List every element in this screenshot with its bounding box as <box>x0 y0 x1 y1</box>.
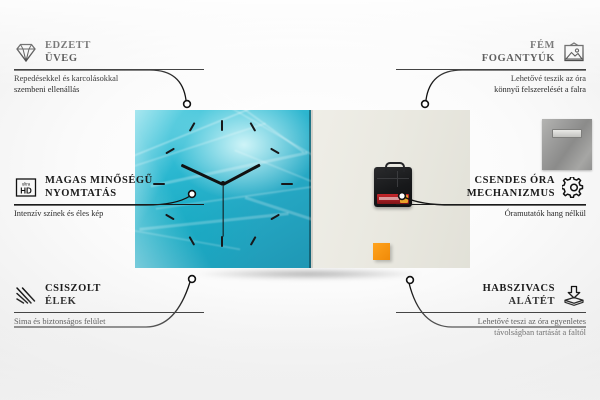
mechanism-loop <box>385 162 405 172</box>
metal-hanger <box>542 119 592 170</box>
connector-dot <box>422 101 429 108</box>
feature-desc: Lehetővé teszik az óra könnyű felszerelé… <box>396 74 586 95</box>
feature-foam-spacer: HABSZIVACS ALÁTÉT Lehetővé teszi az óra … <box>396 283 586 338</box>
product-drop-shadow <box>150 266 468 282</box>
feature-title: HABSZIVACS ALÁTÉT <box>483 283 555 308</box>
feature-metal-handles: FÉM FOGANTYÚK Lehetővé teszik az óra kön… <box>396 40 586 95</box>
divider <box>14 69 204 70</box>
clock-tick <box>250 236 256 245</box>
feature-desc: Óramutatók hang nélkül <box>396 209 586 220</box>
feature-title: CSISZOLT ÉLEK <box>45 283 101 308</box>
clock-tick <box>281 183 293 185</box>
diamond-icon <box>14 42 38 63</box>
feature-header: CSISZOLT ÉLEK <box>14 283 204 308</box>
feature-tempered-glass: EDZETT ÜVEG Repedésekkel és karcolásokka… <box>14 40 204 95</box>
divider <box>396 312 586 313</box>
feature-polished-edges: CSISZOLT ÉLEK Sima és biztonságos felüle… <box>14 283 204 328</box>
feature-header: HABSZIVACS ALÁTÉT <box>396 283 586 308</box>
feature-title: FÉM FOGANTYÚK <box>482 40 555 65</box>
divider <box>14 204 204 205</box>
polished-edges-icon <box>14 285 38 306</box>
feature-header: FÉM FOGANTYÚK <box>396 40 586 65</box>
svg-text:HD: HD <box>20 187 32 196</box>
feature-silent-mechanism: CSENDES ÓRA MECHANIZMUS Óramutatók hang … <box>396 175 586 220</box>
hanger-slot <box>552 129 582 138</box>
clock-center-hub <box>221 181 225 185</box>
divider <box>396 204 586 205</box>
feature-high-quality-print: ultra HD MAGAS MINŐSÉGŰ NYOMTATÁS Intenz… <box>14 175 204 220</box>
clock-second-hand <box>222 185 223 237</box>
feature-desc: Intenzív színek és éles kép <box>14 209 204 220</box>
divider <box>14 312 204 313</box>
clock-tick <box>270 148 279 154</box>
feature-header: ultra HD MAGAS MINŐSÉGŰ NYOMTATÁS <box>14 175 204 200</box>
feature-header: CSENDES ÓRA MECHANIZMUS <box>396 175 586 200</box>
infographic-canvas: EDZETT ÜVEG Repedésekkel és karcolásokka… <box>0 0 600 400</box>
feature-desc: Sima és biztonságos felület <box>14 317 204 328</box>
clock-tick <box>221 236 223 247</box>
foam-pad <box>373 243 390 260</box>
connector-dot <box>184 101 191 108</box>
foam-pad-icon <box>562 285 586 306</box>
feature-desc: Repedésekkel és karcolásokkal szembeni e… <box>14 74 204 95</box>
wall-hanger-icon <box>562 42 586 63</box>
feature-title: EDZETT ÜVEG <box>45 40 91 65</box>
clock-tick <box>221 120 223 131</box>
feature-title: CSENDES ÓRA MECHANIZMUS <box>467 175 555 200</box>
gear-icon <box>562 177 586 198</box>
divider <box>396 69 586 70</box>
feature-header: EDZETT ÜVEG <box>14 40 204 65</box>
ultra-hd-icon: ultra HD <box>14 177 38 198</box>
feature-desc: Lehetővé teszi az óra egyenletes távolsá… <box>396 317 586 338</box>
feature-title: MAGAS MINŐSÉGŰ NYOMTATÁS <box>45 175 153 200</box>
